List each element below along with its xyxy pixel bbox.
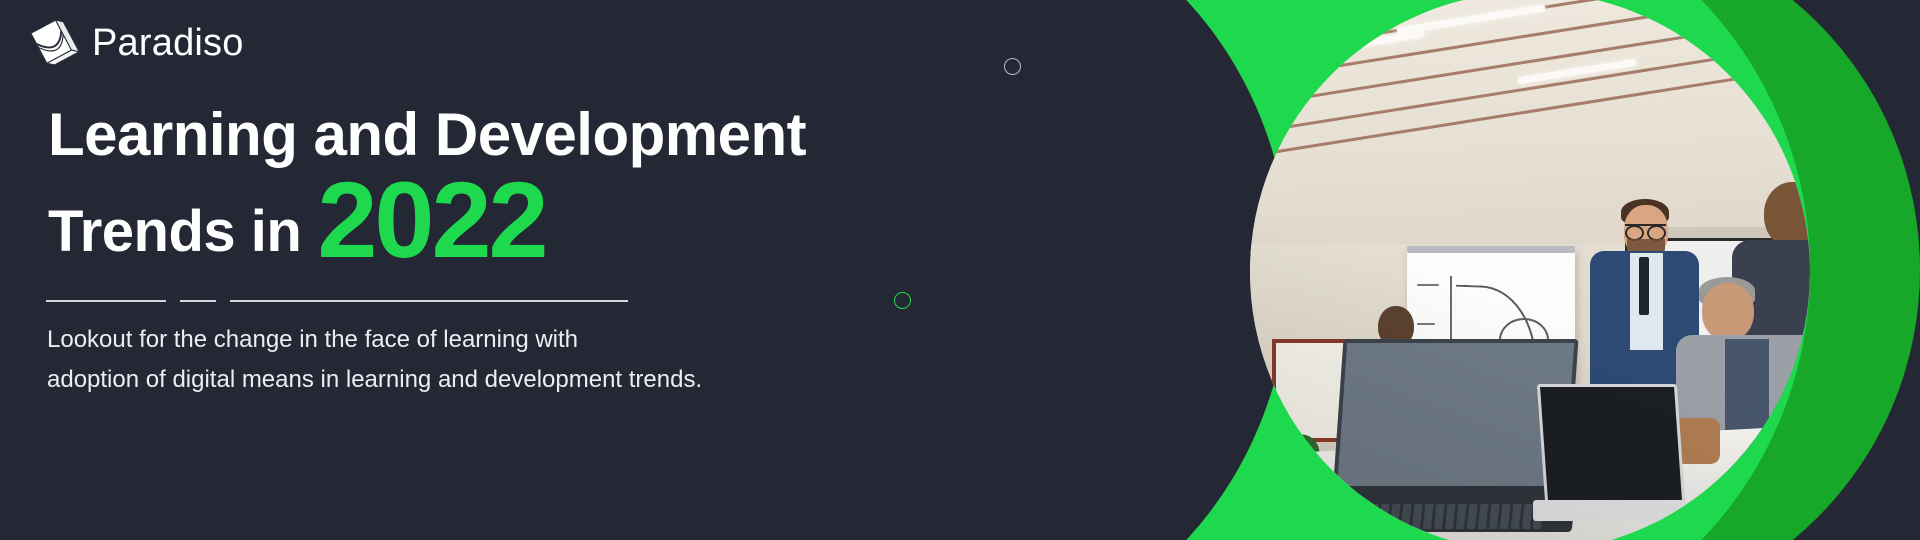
brand-logo[interactable]: Paradiso bbox=[26, 16, 244, 70]
headline-trends-text: Trends in bbox=[48, 196, 301, 268]
divider-segment-1 bbox=[46, 300, 166, 302]
promo-banner: Paradiso Learning and Development Trends… bbox=[0, 0, 1920, 540]
headline-block: Learning and Development Trends in 2022 bbox=[48, 98, 928, 268]
subtitle-line-2-prefix: adoption of digital means bbox=[47, 366, 314, 393]
subtitle-line-2: adoption of digital means in learning an… bbox=[47, 360, 907, 400]
subtitle-line-2-strong: in learning and development trends. bbox=[321, 366, 703, 393]
outline-circle-icon-green bbox=[894, 292, 911, 309]
headline-year: 2022 bbox=[317, 174, 545, 266]
brand-name: Paradiso bbox=[92, 24, 244, 62]
subtitle-line-1: Lookout for the change in the face of le… bbox=[47, 320, 907, 360]
headline-line-2: Trends in 2022 bbox=[48, 168, 928, 268]
divider-segment-3 bbox=[230, 300, 628, 302]
divider-segment-2 bbox=[180, 300, 216, 302]
book-diamond-icon bbox=[26, 16, 80, 70]
business-training-meeting-photo bbox=[1250, 0, 1810, 540]
photo-scene bbox=[1250, 0, 1810, 540]
divider bbox=[46, 300, 628, 302]
banner-artwork bbox=[990, 0, 1920, 540]
outline-circle-icon-light bbox=[1004, 58, 1021, 75]
photo-vignette bbox=[1250, 0, 1810, 540]
subtitle-block: Lookout for the change in the face of le… bbox=[47, 320, 907, 400]
